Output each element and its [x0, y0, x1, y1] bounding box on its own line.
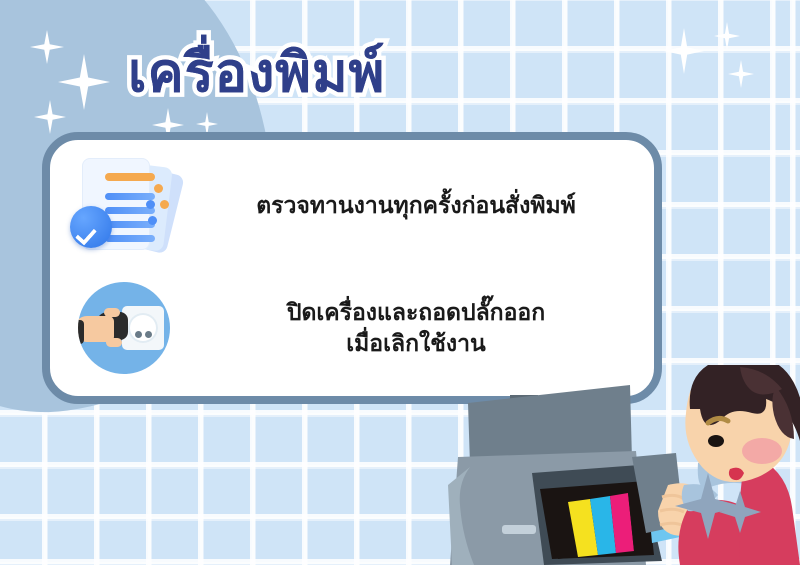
tip-text-2: ปิดเครื่องและถอดปลั๊กออก เมื่อเลิกใช้งาน: [180, 297, 652, 359]
documents-check-icon: [68, 154, 180, 258]
page-title: เครื่องพิมพ์: [128, 46, 385, 100]
tip-text-2-line1: ปิดเครื่องและถอดปลั๊กออก: [180, 297, 652, 328]
tip-row-2: ปิดเครื่องและถอดปลั๊กออก เมื่อเลิกใช้งาน: [68, 280, 652, 376]
tip-row-1: ตรวจทานงานทุกครั้งก่อนสั่งพิมพ์: [68, 154, 652, 258]
tips-card: ตรวจทานงานทุกครั้งก่อนสั่งพิมพ์: [42, 132, 662, 404]
poster-canvas: เครื่องพิมพ์ เครื่องพิมพ์: [0, 0, 800, 565]
tip-text-2-line2: เมื่อเลิกใช้งาน: [180, 328, 652, 359]
tip-text-1: ตรวจทานงานทุกครั้งก่อนสั่งพิมพ์: [180, 190, 652, 221]
printer-ink-illustration: [440, 365, 800, 565]
unplug-socket-icon: [68, 280, 180, 376]
check-badge-icon: [70, 206, 112, 248]
